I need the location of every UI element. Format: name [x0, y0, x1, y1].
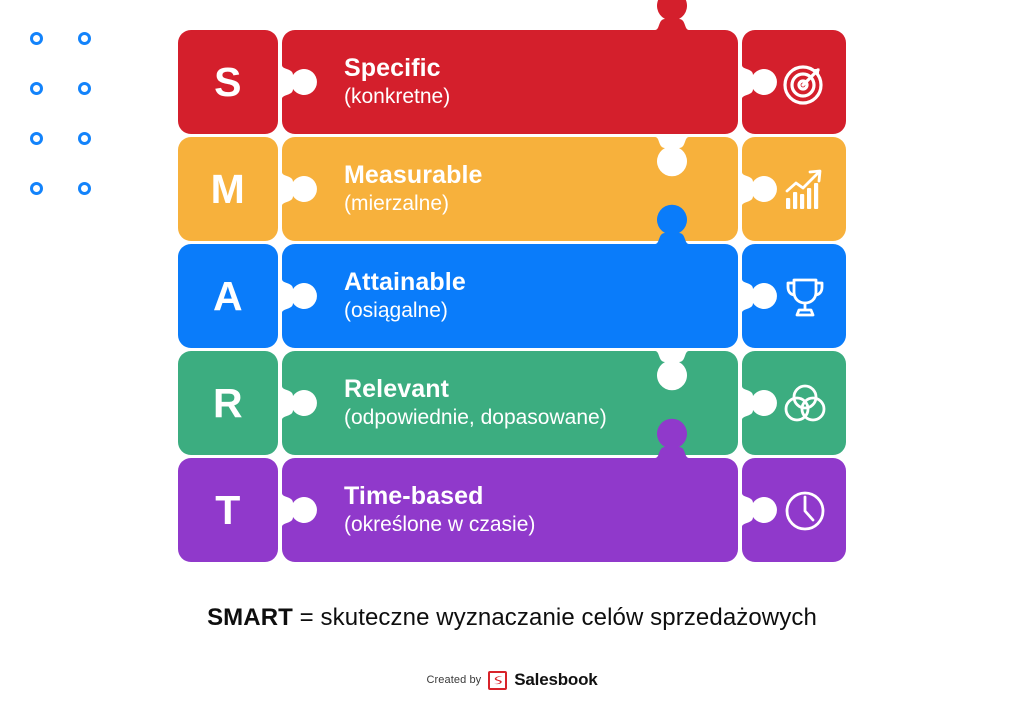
smart-row-relevant: R Relevant (odpowiednie, dopasowane): [178, 351, 846, 455]
letter-glyph: M: [211, 169, 246, 210]
icon-tile-specific: [742, 30, 846, 134]
icon-tile-shape: [742, 30, 846, 134]
caption-strong: SMART: [207, 604, 293, 631]
letter-tile-r: R: [178, 351, 278, 455]
letter-tile-t: T: [178, 458, 278, 562]
letter-glyph: R: [213, 383, 243, 424]
icon-tile-shape: [742, 137, 846, 241]
letter-glyph: T: [215, 490, 241, 531]
icon-tile-time-based: [742, 458, 846, 562]
icon-tile-measurable: [742, 137, 846, 241]
salesbook-s-mark-icon: [488, 671, 507, 690]
decor-dot: [78, 182, 91, 195]
decor-dot: [78, 132, 91, 145]
letter-tile-a: A: [178, 244, 278, 348]
body-tile-shape: [282, 458, 738, 562]
icon-tile-relevant: [742, 351, 846, 455]
icon-tile-shape: [742, 458, 846, 562]
decor-dot: [30, 32, 43, 45]
smart-puzzle-diagram: S Specific (konkretne): [178, 30, 846, 578]
footer-brand-name: Salesbook: [514, 670, 597, 690]
letter-glyph: A: [213, 276, 243, 317]
body-tile-attainable: Attainable (osiągalne): [282, 244, 738, 348]
body-tile-specific: Specific (konkretne): [282, 30, 738, 134]
letter-tile-s: S: [178, 30, 278, 134]
footer-credit: Created by Salesbook: [0, 670, 1024, 690]
decor-dot: [78, 82, 91, 95]
icon-tile-attainable: [742, 244, 846, 348]
smart-row-measurable: M Measurable (mierzalne): [178, 137, 846, 241]
caption-rest: = skuteczne wyznaczanie celów sprzedażow…: [293, 604, 817, 631]
icon-tile-shape: [742, 351, 846, 455]
letter-glyph: S: [214, 62, 242, 103]
decorative-dot-grid: [30, 32, 102, 200]
decor-dot: [30, 132, 43, 145]
footer-created-by-label: Created by: [426, 674, 481, 686]
decor-dot: [30, 182, 43, 195]
decor-dot: [78, 32, 91, 45]
letter-tile-m: M: [178, 137, 278, 241]
body-tile-shape: [282, 30, 738, 134]
smart-row-time-based: T Time-based (określone w czasie): [178, 458, 846, 562]
body-tile-shape: [282, 244, 738, 348]
icon-tile-shape: [742, 244, 846, 348]
smart-row-specific: S Specific (konkretne): [178, 30, 846, 134]
smart-row-attainable: A Attainable (osiągalne): [178, 244, 846, 348]
decor-dot: [30, 82, 43, 95]
diagram-caption: SMART = skuteczne wyznaczanie celów sprz…: [0, 604, 1024, 632]
body-tile-time-based: Time-based (określone w czasie): [282, 458, 738, 562]
